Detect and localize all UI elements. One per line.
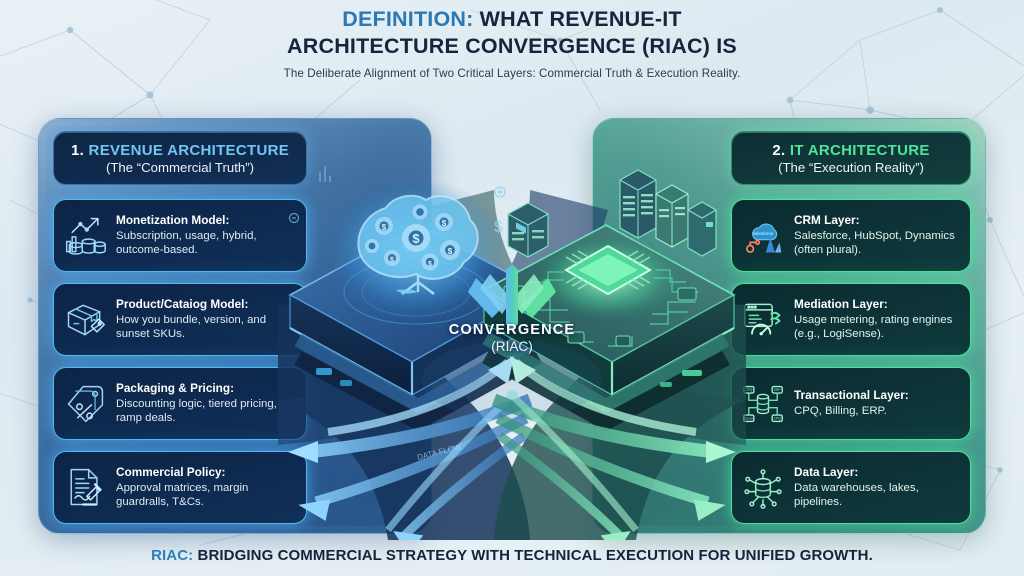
right-panel-subtitle: (The “Execution Reality”) xyxy=(778,160,924,175)
svg-text:$: $ xyxy=(412,231,420,246)
left-panel-name: REVENUE ARCHITECTURE xyxy=(84,142,289,159)
card-title: CRM Layer: xyxy=(794,213,960,228)
price-tags-percent-icon xyxy=(62,381,108,427)
card-description: CPQ, Billing, ERP. xyxy=(794,404,960,418)
card-title: Transactional Layer: xyxy=(794,388,960,403)
card-description: Salesforce, HubSpot, Dynamics (often plu… xyxy=(794,229,960,258)
card-description: Usage metering, rating engines (e.g., Lo… xyxy=(794,313,960,342)
svg-text:$: $ xyxy=(494,219,503,236)
svg-text:$: $ xyxy=(442,219,447,228)
infographic-canvas: DEFINITION: WHAT REVENUE-IT ARCHITECTURE… xyxy=(0,0,1024,576)
card-data-layer-body: Data Layer: Data warehouses, lakes, pipe… xyxy=(794,465,960,510)
document-gavel-icon xyxy=(62,465,108,511)
svg-text:CPQ: CPQ xyxy=(774,416,782,420)
card-mediation-layer-body: Mediation Layer: Usage metering, rating … xyxy=(794,297,960,342)
card-data-layer[interactable]: Data Layer: Data warehouses, lakes, pipe… xyxy=(731,451,971,524)
left-panel-number: 1. xyxy=(71,142,84,159)
card-crm-layer-body: CRM Layer: Salesforce, HubSpot, Dynamics… xyxy=(794,213,960,258)
right-panel-title: 2. IT ARCHITECTURE xyxy=(772,142,929,159)
footer-text: RIAC: BRIDGING COMMERCIAL STRATEGY WITH … xyxy=(0,547,1024,564)
card-crm-layer[interactable]: salesforce CRM Layer: Salesforce, HubSpo… xyxy=(731,199,971,272)
convergence-illustration: $ $$ $$ $ xyxy=(268,100,756,540)
title-rest-line-1: WHAT REVENUE-IT xyxy=(473,7,681,31)
title-accent-word: DEFINITION: xyxy=(342,7,473,31)
card-transactional-layer-body: Transactional Layer: CPQ, Billing, ERP. xyxy=(794,388,960,418)
right-panel-number: 2. xyxy=(772,142,785,159)
card-transactional-layer[interactable]: CPQ ERP BLNG CPQ Transactional Layer: CP… xyxy=(731,367,971,440)
svg-text:$: $ xyxy=(382,223,387,232)
card-title: Mediation Layer: xyxy=(794,297,960,312)
page-title-line-1: DEFINITION: WHAT REVENUE-IT xyxy=(0,6,1024,33)
footer-banner: RIAC: BRIDGING COMMERCIAL STRATEGY WITH … xyxy=(0,547,1024,564)
card-title: Data Layer: xyxy=(794,465,960,480)
package-box-tag-icon xyxy=(62,297,108,343)
left-panel-title: 1. REVENUE ARCHITECTURE xyxy=(71,142,289,159)
card-mediation-layer[interactable]: Mediation Layer: Usage metering, rating … xyxy=(731,283,971,356)
footer-main-text: BRIDGING COMMERCIAL STRATEGY WITH TECHNI… xyxy=(193,547,873,564)
right-panel-name: IT ARCHITECTURE xyxy=(785,142,929,159)
it-architecture-card-list: salesforce CRM Layer: Salesforce, HubSpo… xyxy=(731,199,971,524)
page-header: DEFINITION: WHAT REVENUE-IT ARCHITECTURE… xyxy=(0,6,1024,80)
svg-text:$: $ xyxy=(448,247,453,256)
page-subtitle: The Deliberate Alignment of Two Critical… xyxy=(0,67,1024,80)
coins-growth-chart-icon xyxy=(62,213,108,259)
convergence-graphic: $ $$ $$ $ xyxy=(268,100,756,540)
right-panel-header: 2. IT ARCHITECTURE (The “Execution Reali… xyxy=(731,131,971,185)
svg-text:$: $ xyxy=(390,257,394,264)
footer-accent-word: RIAC: xyxy=(151,547,193,564)
svg-text:ERP: ERP xyxy=(774,388,782,392)
left-panel-subtitle: (The “Commercial Truth”) xyxy=(106,160,254,175)
page-title-line-2: ARCHITECTURE CONVERGENCE (RIAC) IS xyxy=(0,33,1024,60)
svg-text:$: $ xyxy=(428,261,432,268)
card-description: Data warehouses, lakes, pipelines. xyxy=(794,481,960,510)
